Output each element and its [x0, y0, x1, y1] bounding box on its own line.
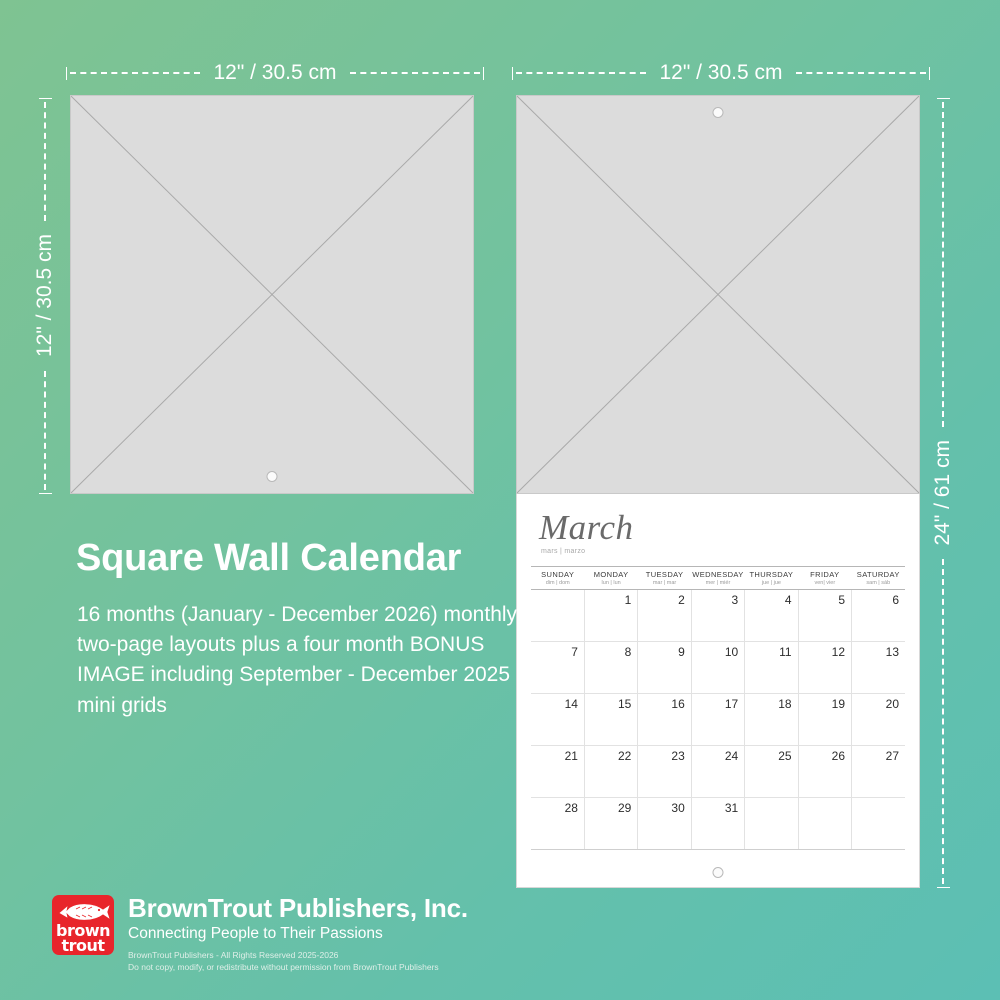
calendar-empty-cell[interactable] — [798, 798, 851, 850]
day-name-translated: dim | dom — [531, 580, 584, 586]
calendar-day-cell[interactable]: 29 — [584, 798, 637, 850]
dimension-top-right-label: 12" / 30.5 cm — [649, 61, 792, 85]
calendar-week-row: 21222324252627 — [531, 746, 905, 798]
calendar-day-cell[interactable]: 5 — [798, 590, 851, 642]
dimension-dash-left — [516, 72, 646, 74]
hole-punch — [713, 107, 724, 118]
dimension-top-left: 12" / 30.5 cm — [66, 60, 484, 86]
calendar-day-header-wednesday: WEDNESDAYmer | miér — [691, 567, 744, 590]
calendar-day-cell[interactable]: 23 — [638, 746, 691, 798]
dimension-dash-right — [796, 72, 926, 74]
calendar-day-cell[interactable]: 11 — [745, 642, 798, 694]
calendar-day-cell[interactable]: 6 — [852, 590, 905, 642]
browntrout-logo: brown trout — [52, 895, 114, 955]
dimension-cap-left — [66, 67, 67, 80]
calendar-day-cell[interactable]: 2 — [638, 590, 691, 642]
calendar-empty-cell[interactable] — [531, 590, 584, 642]
calendar-day-cell[interactable]: 27 — [852, 746, 905, 798]
calendar-page: March mars | marzo SUNDAYdim | domMONDAY… — [516, 494, 920, 888]
day-name: THURSDAY — [745, 570, 798, 579]
calendar-day-cell[interactable]: 19 — [798, 694, 851, 746]
dimension-dash-right — [350, 72, 480, 74]
calendar-day-header-thursday: THURSDAYjue | jue — [745, 567, 798, 590]
calendar-day-cell[interactable]: 26 — [798, 746, 851, 798]
trout-fish-icon — [56, 901, 110, 923]
calendar-day-cell[interactable]: 22 — [584, 746, 637, 798]
day-name-translated: mer | miér — [691, 580, 744, 586]
right-image-panel — [516, 95, 920, 494]
dimension-top-left-label: 12" / 30.5 cm — [203, 61, 346, 85]
calendar-day-cell[interactable]: 17 — [691, 694, 744, 746]
day-name: SATURDAY — [852, 570, 905, 579]
dimension-right-vertical-label: 24" / 61 cm — [931, 430, 955, 556]
day-name: WEDNESDAY — [691, 570, 744, 579]
dimension-dash-left — [70, 72, 200, 74]
dimension-cap-top — [39, 98, 52, 99]
dimension-dash-bottom — [44, 371, 46, 490]
dimension-left-vertical-label: 12" / 30.5 cm — [33, 224, 57, 367]
calendar-day-cell[interactable]: 9 — [638, 642, 691, 694]
hole-punch — [267, 471, 278, 482]
calendar-day-cell[interactable]: 1 — [584, 590, 637, 642]
calendar-month-subtitle: mars | marzo — [541, 548, 919, 555]
calendar-empty-cell[interactable] — [745, 798, 798, 850]
calendar-day-header-monday: MONDAYlun | lun — [584, 567, 637, 590]
calendar-week-row: 123456 — [531, 590, 905, 642]
dimension-dash-top — [942, 102, 944, 427]
company-tagline: Connecting People to Their Passions — [128, 925, 468, 942]
calendar-day-cell[interactable]: 28 — [531, 798, 584, 850]
calendar-day-cell[interactable]: 20 — [852, 694, 905, 746]
day-name: SUNDAY — [531, 570, 584, 579]
placeholder-cross-icon — [71, 96, 473, 493]
dimension-right-vertical: 24" / 61 cm — [930, 98, 956, 888]
calendar-week-row: 28293031 — [531, 798, 905, 850]
placeholder-cross-icon — [517, 96, 919, 493]
calendar-day-cell[interactable]: 3 — [691, 590, 744, 642]
calendar-day-cell[interactable]: 7 — [531, 642, 584, 694]
dimension-left-vertical: 12" / 30.5 cm — [32, 98, 58, 494]
day-name: FRIDAY — [798, 570, 851, 579]
left-image-panel — [70, 95, 474, 494]
calendar-day-header-sunday: SUNDAYdim | dom — [531, 567, 584, 590]
hole-punch — [713, 867, 724, 878]
calendar-day-cell[interactable]: 8 — [584, 642, 637, 694]
dimension-dash-bottom — [942, 559, 944, 884]
dimension-cap-bottom — [937, 887, 950, 888]
calendar-day-cell[interactable]: 25 — [745, 746, 798, 798]
calendar-empty-cell[interactable] — [852, 798, 905, 850]
dimension-cap-right — [483, 67, 484, 80]
calendar-day-cell[interactable]: 10 — [691, 642, 744, 694]
calendar-day-header-friday: FRIDAYven| vier — [798, 567, 851, 590]
dimension-cap-bottom — [39, 493, 52, 494]
day-name-translated: mar | mar — [638, 580, 691, 586]
calendar-week-row: 14151617181920 — [531, 694, 905, 746]
dimension-top-right: 12" / 30.5 cm — [512, 60, 930, 86]
calendar-day-cell[interactable]: 4 — [745, 590, 798, 642]
calendar-day-cell[interactable]: 24 — [691, 746, 744, 798]
calendar-body: 1234567891011121314151617181920212223242… — [531, 590, 905, 850]
calendar-day-cell[interactable]: 15 — [584, 694, 637, 746]
day-name-translated: jue | jue — [745, 580, 798, 586]
calendar-grid: SUNDAYdim | domMONDAYlun | lunTUESDAYmar… — [531, 566, 905, 850]
day-name: MONDAY — [584, 570, 637, 579]
page-title: Square Wall Calendar — [76, 537, 461, 580]
dimension-cap-top — [937, 98, 950, 99]
calendar-day-header-tuesday: TUESDAYmar | mar — [638, 567, 691, 590]
logo-word-trout: trout — [52, 938, 114, 954]
calendar-day-cell[interactable]: 31 — [691, 798, 744, 850]
calendar-day-cell[interactable]: 13 — [852, 642, 905, 694]
day-name-translated: ven| vier — [798, 580, 851, 586]
company-name: BrownTrout Publishers, Inc. — [128, 895, 468, 922]
calendar-week-row: 78910111213 — [531, 642, 905, 694]
calendar-day-cell[interactable]: 21 — [531, 746, 584, 798]
dimension-cap-right — [929, 67, 930, 80]
legal-line-2: Do not copy, modify, or redistribute wit… — [128, 962, 468, 973]
day-name-translated: lun | lun — [584, 580, 637, 586]
calendar-day-cell[interactable]: 18 — [745, 694, 798, 746]
legal-line-1: BrownTrout Publishers - All Rights Reser… — [128, 950, 468, 961]
calendar-day-cell[interactable]: 14 — [531, 694, 584, 746]
calendar-day-cell[interactable]: 12 — [798, 642, 851, 694]
calendar-header-row: SUNDAYdim | domMONDAYlun | lunTUESDAYmar… — [531, 567, 905, 590]
calendar-day-cell[interactable]: 16 — [638, 694, 691, 746]
product-description: 16 months (January - December 2026) mont… — [77, 600, 527, 721]
calendar-day-header-saturday: SATURDAYsam | sáb — [852, 567, 905, 590]
day-name-translated: sam | sáb — [852, 580, 905, 586]
calendar-day-cell[interactable]: 30 — [638, 798, 691, 850]
dimension-cap-left — [512, 67, 513, 80]
calendar-month-title: March — [539, 510, 919, 545]
footer: brown trout BrownTrout Publishers, Inc. … — [52, 895, 468, 973]
dimension-dash-top — [44, 102, 46, 221]
day-name: TUESDAY — [638, 570, 691, 579]
